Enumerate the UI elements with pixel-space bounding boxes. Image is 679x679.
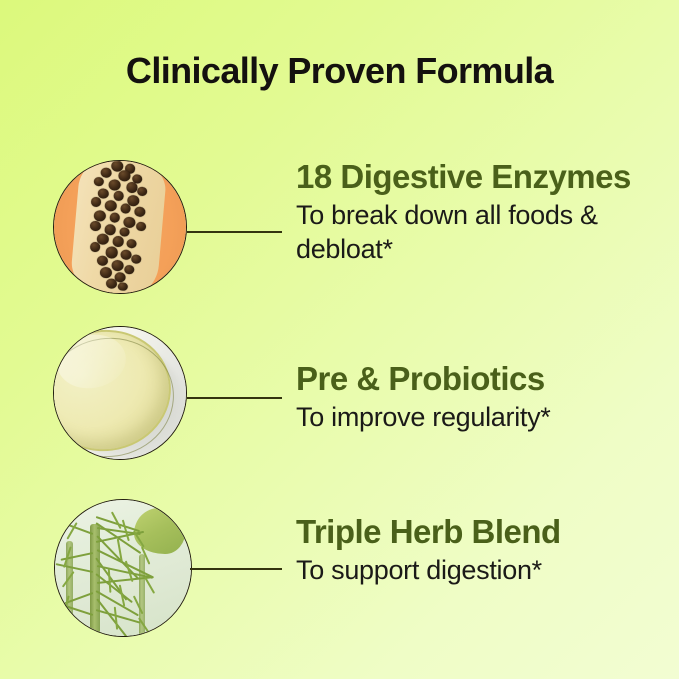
product-benefits-infographic: Clinically Proven Formula — [0, 0, 679, 679]
feature-text-block: Triple Herb Blend To support digestion* — [296, 514, 666, 587]
feature-text-block: 18 Digestive Enzymes To break down all f… — [296, 159, 666, 267]
papaya-flesh-background — [54, 161, 186, 293]
feature-row-digestive-enzymes: 18 Digestive Enzymes To break down all f… — [0, 151, 679, 311]
fennel-herb-photo — [54, 499, 192, 637]
papaya-seed-cluster — [73, 160, 164, 294]
feature-heading: Pre & Probiotics — [296, 361, 666, 398]
petri-dish-culture-photo — [53, 326, 187, 460]
feature-row-pre-probiotics: Pre & Probiotics To improve regularity* — [0, 317, 679, 477]
feature-row-triple-herb-blend: Triple Herb Blend To support digestion* — [0, 487, 679, 647]
feature-subtext: To support digestion* — [296, 553, 666, 587]
page-title: Clinically Proven Formula — [0, 50, 679, 92]
connector-line — [190, 568, 282, 570]
connector-line — [187, 231, 282, 233]
feature-subtext: To break down all foods & debloat* — [296, 198, 666, 267]
feature-heading: Triple Herb Blend — [296, 514, 666, 551]
feature-subtext: To improve regularity* — [296, 400, 666, 434]
connector-line — [187, 397, 282, 399]
feature-text-block: Pre & Probiotics To improve regularity* — [296, 361, 666, 434]
feature-heading: 18 Digestive Enzymes — [296, 159, 666, 196]
papaya-seeds-photo — [53, 160, 187, 294]
